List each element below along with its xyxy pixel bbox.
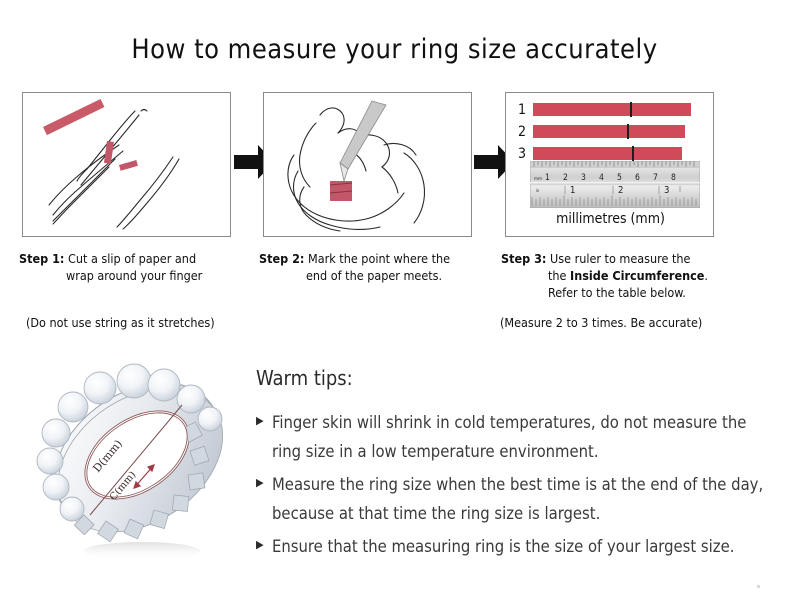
diamond-eternity-ring-diagram: D(mm) C(mm) [30,355,245,570]
svg-text:3: 3 [581,173,586,183]
tip-item: ▶ Ensure that the measuring ring is the … [256,532,766,561]
strip-bar [533,103,691,116]
scan-artifact [757,585,760,588]
svg-text:1: 1 [570,185,575,196]
svg-text:3: 3 [664,185,669,196]
step-3-note: (Measure 2 to 3 times. Be accurate) [500,315,702,331]
step-1-caption: Step 1: Cut a slip of paper and wrap aro… [19,250,249,284]
steps-panel-row: 1 2 3 [0,92,789,242]
tip-text: Measure the ring size when the best time… [272,470,766,528]
svg-text:2: 2 [563,173,568,183]
step-1-note: (Do not use string as it stretches) [26,315,215,331]
step-3-caption: Step 3: Use ruler to measure the the Ins… [501,250,771,301]
strip-row: 2 [518,123,704,140]
svg-text:5: 5 [617,173,622,183]
hand-with-paper-strip-icon [23,93,230,236]
step-2-caption: Step 2: Mark the point where the end of … [259,250,489,284]
step-3-line2-suffix: . [704,268,708,283]
step-3-line1: Use ruler to measure the [550,251,690,266]
strip-row: 3 [518,145,704,162]
step-1-line1: Cut a slip of paper and [68,251,196,266]
tip-text: Ensure that the measuring ring is the si… [272,532,766,561]
strip-mark [630,102,632,117]
svg-text:1: 1 [545,173,550,183]
strip-row: 1 [518,101,704,118]
step-2-line2: end of the paper meets. [259,267,489,284]
step-2-line1: Mark the point where the [308,251,450,266]
step-3-line2-prefix: the [548,268,570,283]
strip-bar [533,147,682,160]
svg-text:8: 8 [671,173,676,183]
step-3-line3: Refer to the table below. [501,284,771,301]
ring-diagram: D(mm) C(mm) [30,355,245,570]
steel-ruler-icon: mm 1 2 3 4 5 6 7 8 in 1 2 3 [530,161,700,208]
strip-number: 2 [518,125,533,139]
step-3-line2: the Inside Circumference. [501,267,771,284]
svg-text:2: 2 [618,185,623,196]
strip-number: 1 [518,103,533,117]
strip-number: 3 [518,147,533,161]
hand-marking-with-pen-icon [264,93,471,236]
step-1-lead: Step 1: [19,251,64,266]
page-title: How to measure your ring size accurately [0,34,789,65]
ruler-unit-caption: millimetres (mm) [506,211,714,227]
warm-tips-section: Warm tips: ▶ Finger skin will shrink in … [256,366,766,565]
measured-strips-group: 1 2 3 [518,101,704,167]
svg-text:6: 6 [635,173,640,183]
step-3-lead: Step 3: [501,251,546,266]
svg-text:4: 4 [599,173,604,183]
svg-text:in: in [536,188,539,193]
svg-text:mm: mm [534,177,542,182]
tip-item: ▶ Measure the ring size when the best ti… [256,470,766,528]
ruler-graphic: mm 1 2 3 4 5 6 7 8 in 1 2 3 [530,161,700,208]
step-3-inside-circumference: Inside Circumference [570,268,704,283]
step-1-illustration-panel [22,92,231,237]
strip-mark [627,124,629,139]
step-2-lead: Step 2: [259,251,304,266]
triangle-bullet-icon: ▶ [256,532,272,550]
strip-bar [533,125,685,138]
warm-tips-heading: Warm tips: [256,366,766,390]
tip-item: ▶ Finger skin will shrink in cold temper… [256,408,766,466]
strip-mark [632,146,634,161]
step-1-line2: wrap around your finger [19,267,249,284]
triangle-bullet-icon: ▶ [256,408,272,426]
step-2-illustration-panel [263,92,472,237]
triangle-bullet-icon: ▶ [256,470,272,488]
tip-text: Finger skin will shrink in cold temperat… [272,408,766,466]
svg-text:7: 7 [653,173,658,183]
step-3-illustration-panel: 1 2 3 [505,92,714,237]
